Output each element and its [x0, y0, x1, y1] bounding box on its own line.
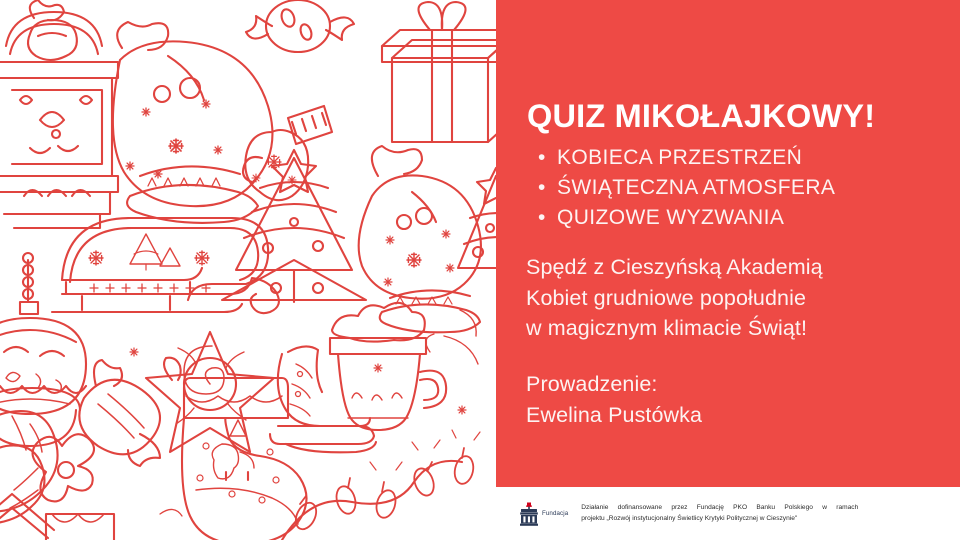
- list-item-label: KOBIECA PRZESTRZEŃ: [557, 146, 802, 169]
- host-name: Ewelina Pustówka: [526, 400, 946, 431]
- bullet-icon: •: [538, 203, 546, 233]
- logo-wordmark: Fundacja: [542, 510, 568, 517]
- sponsor-disclaimer: Działanie dofinansowane przez Fundację P…: [581, 503, 858, 524]
- list-item: • ŚWIĄTECZNA ATMOSFERA: [536, 173, 946, 203]
- christmas-doodle-artwork: [0, 0, 496, 540]
- sponsor-footer: Fundacja Działanie dofinansowane przez F…: [496, 487, 960, 540]
- list-item: • KOBIECA PRZESTRZEŃ: [536, 143, 946, 173]
- poster-slide: QUIZ MIKOŁAJKOWY! • KOBIECA PRZESTRZEŃ •…: [0, 0, 960, 540]
- page-title: QUIZ MIKOŁAJKOWY!: [527, 99, 937, 135]
- christmas-illustration-panel: [0, 0, 496, 540]
- host-block: Prowadzenie: Ewelina Pustówka: [526, 369, 946, 430]
- disclaimer-line: Działanie dofinansowane przez Fundację P…: [581, 503, 858, 514]
- body-line: Spędź z Cieszyńską Akademią: [526, 252, 946, 283]
- pko-bank-building-icon: [520, 502, 538, 526]
- disclaimer-line: projektu „Rozwój instytucjonalny Świetli…: [581, 514, 858, 525]
- body-copy: Spędź z Cieszyńską Akademią Kobiet grudn…: [526, 252, 946, 344]
- list-item-label: ŚWIĄTECZNA ATMOSFERA: [557, 176, 835, 199]
- body-line: w magicznym klimacie Świąt!: [526, 313, 946, 344]
- list-item: • QUIZOWE WYZWANIA: [536, 203, 946, 233]
- body-line: Kobiet grudniowe popołudnie: [526, 283, 946, 314]
- host-label: Prowadzenie:: [526, 369, 946, 400]
- feature-bullet-list: • KOBIECA PRZESTRZEŃ • ŚWIĄTECZNA ATMOSF…: [536, 143, 946, 233]
- bullet-icon: •: [538, 173, 546, 203]
- content-panel: QUIZ MIKOŁAJKOWY! • KOBIECA PRZESTRZEŃ •…: [496, 0, 960, 487]
- bullet-icon: •: [538, 143, 546, 173]
- list-item-label: QUIZOWE WYZWANIA: [557, 206, 784, 229]
- pko-fundacja-logo: Fundacja: [520, 502, 568, 526]
